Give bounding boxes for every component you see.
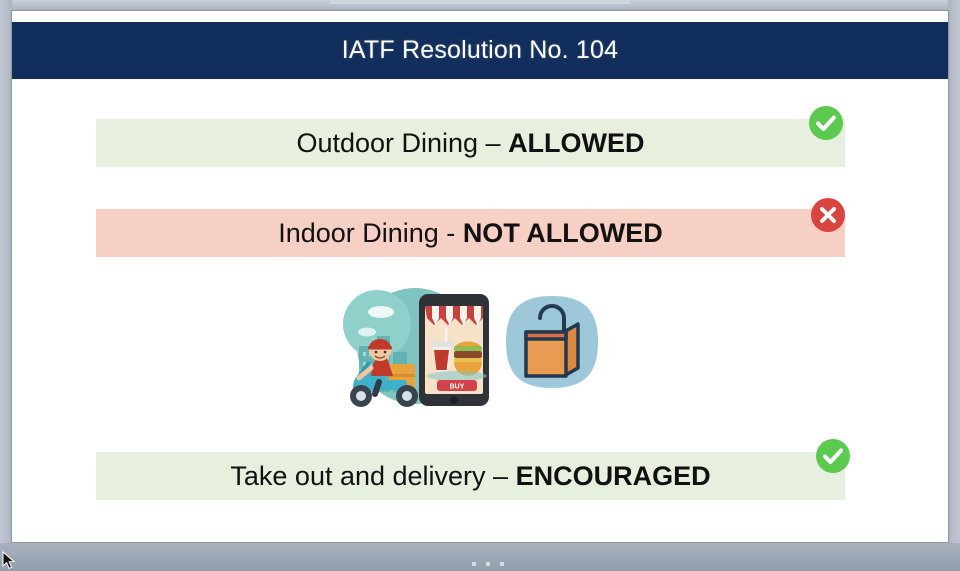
statement-label-take-out-and-delivery: Take out and delivery – [230,461,515,491]
window-resize-handle[interactable] [472,560,504,568]
statement-text-take-out-and-delivery: Take out and delivery – ENCOURAGED [230,461,710,492]
check-circle-icon [807,104,845,142]
takeout-bag-group [502,292,602,392]
statement-text-indoor-dining: Indoor Dining - NOT ALLOWED [278,218,663,249]
statement-row-take-out-and-delivery: Take out and delivery – ENCOURAGED [96,452,845,500]
slide-body: Outdoor Dining – ALLOWED Indoor Dining -… [12,79,948,543]
check-circle-icon [814,437,852,475]
food-delivery-illustration: BUY [337,284,512,414]
buy-button-label: BUY [450,384,465,391]
status-badge-not-allowed [809,196,847,234]
resize-dot [472,562,476,566]
status-badge-encouraged [814,437,852,475]
statement-row-indoor-dining: Indoor Dining - NOT ALLOWED [96,209,845,257]
resize-dot [500,562,504,566]
window-chrome-left [0,0,12,571]
window-chrome-right [948,0,960,571]
delivery-illustration-group: BUY [337,284,622,419]
app-window: IATF Resolution No. 104 Outdoor Dining –… [0,0,960,571]
statement-label-indoor-dining: Indoor Dining - [278,218,463,248]
window-chrome-top-highlight [330,0,630,4]
slide-canvas: IATF Resolution No. 104 Outdoor Dining –… [12,11,948,543]
statement-label-outdoor-dining: Outdoor Dining – [296,128,508,158]
resize-dot [486,562,490,566]
statement-text-outdoor-dining: Outdoor Dining – ALLOWED [296,128,644,159]
status-badge-allowed [807,104,845,142]
status-value-indoor-dining: NOT ALLOWED [463,218,663,248]
statement-row-outdoor-dining: Outdoor Dining – ALLOWED [96,119,845,167]
status-value-outdoor-dining: ALLOWED [508,128,644,158]
x-circle-icon [809,196,847,234]
slide-title-bar: IATF Resolution No. 104 [12,22,948,79]
page-title: IATF Resolution No. 104 [342,36,619,65]
status-value-take-out-and-delivery: ENCOURAGED [516,461,711,491]
shopping-bag-icon [502,292,602,392]
mouse-cursor-icon [2,551,18,571]
